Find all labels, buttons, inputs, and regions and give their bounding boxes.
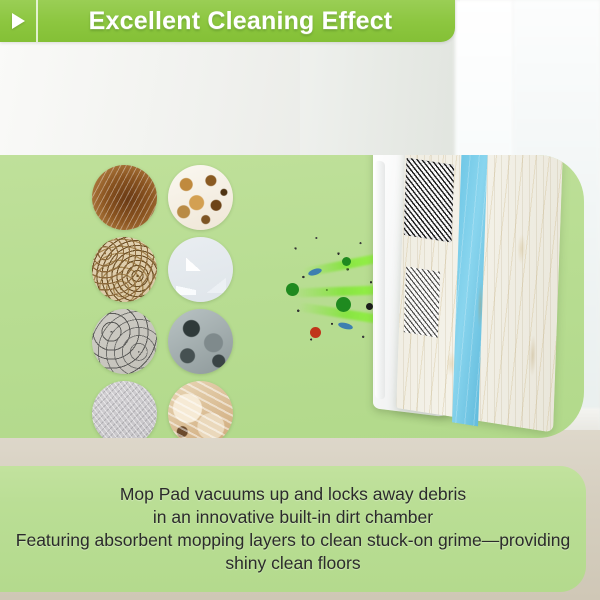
debris-swatch-paper-scraps (168, 237, 233, 302)
dirt-chamber (404, 157, 455, 242)
particle-dot (336, 297, 351, 312)
particle-dot (310, 327, 321, 338)
debris-swatch-metal-debris (168, 309, 233, 374)
caption-line-3: Featuring absorbent mopping layers to cl… (16, 529, 570, 552)
play-triangle-icon (0, 13, 36, 29)
caption-line-1: Mop Pad vacuums up and locks away debris (120, 483, 466, 506)
caption-line-2: in an innovative built-in dirt chamber (153, 506, 433, 529)
particle-dot (286, 283, 299, 296)
caption-panel: Mop Pad vacuums up and locks away debris… (0, 466, 586, 592)
header-banner: Excellent Cleaning Effect (0, 0, 455, 42)
caption-line-4: shiny clean floors (225, 552, 360, 575)
particle-dot (342, 257, 351, 266)
debris-swatch-sand-grains (92, 237, 157, 302)
mop-head-edge (375, 160, 385, 399)
debris-swatch-cereal-crumbs (168, 165, 233, 230)
debris-swatch-pet-fur (168, 381, 233, 438)
debris-swatch-grid (92, 165, 236, 438)
mop-pad-illustration (373, 155, 558, 428)
page-title: Excellent Cleaning Effect (38, 7, 455, 36)
cleaning-demo-panel (0, 155, 584, 438)
particle-dot (366, 303, 373, 310)
debris-swatch-coffee-stain (92, 165, 157, 230)
debris-swatch-floor-dust (92, 309, 157, 374)
debris-swatch-lint-fibers (92, 381, 157, 438)
dirt-chamber-secondary (404, 266, 440, 337)
